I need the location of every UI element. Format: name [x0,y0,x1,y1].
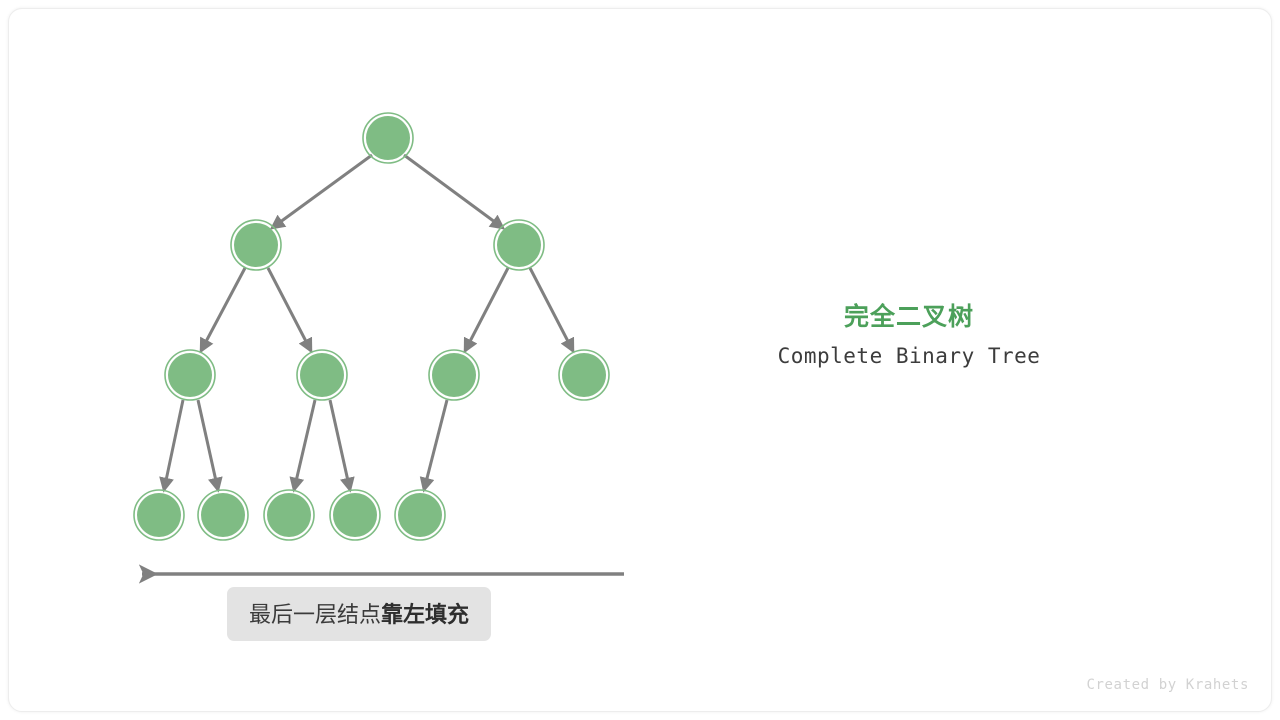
tree-node-n6[interactable] [559,350,609,400]
edge-n3-to-n8 [198,400,218,490]
tree-node-n4[interactable] [297,350,347,400]
edge-n4-to-n9 [294,400,315,490]
edge-n1-to-n4 [268,268,311,351]
tree-node-n8[interactable] [198,490,248,540]
edge-n2-to-n5 [465,268,508,351]
edge-n3-to-n7 [164,400,183,490]
watermark-credit: Created by Krahets [869,677,1249,693]
annotation-emphasis: 靠左填充 [381,602,469,627]
edge-n5-to-n11 [424,400,447,490]
legend-title-cn: 完全二叉树 [709,297,1109,333]
tree-edges [164,155,573,490]
tree-node-n5[interactable] [429,350,479,400]
tree-nodes [134,113,609,540]
legend-title-en: Complete Binary Tree [709,344,1109,368]
tree-node-n0[interactable] [363,113,413,163]
edge-n2-to-n6 [530,268,573,351]
edge-n1-to-n3 [201,268,245,351]
annotation-prefix: 最后一层结点 [249,602,381,627]
edge-root-to-left [272,155,372,228]
edge-root-to-right [404,155,503,228]
tree-node-n7[interactable] [134,490,184,540]
tree-node-n3[interactable] [165,350,215,400]
tree-node-n9[interactable] [264,490,314,540]
edge-n4-to-n10 [330,400,350,490]
figure-card: 完全二叉树 Complete Binary Tree 最后一层结点靠左填充 Cr… [8,8,1272,712]
tree-node-n11[interactable] [395,490,445,540]
tree-node-n2[interactable] [494,220,544,270]
last-level-annotation: 最后一层结点靠左填充 [227,587,491,641]
tree-node-n10[interactable] [330,490,380,540]
tree-node-n1[interactable] [231,220,281,270]
